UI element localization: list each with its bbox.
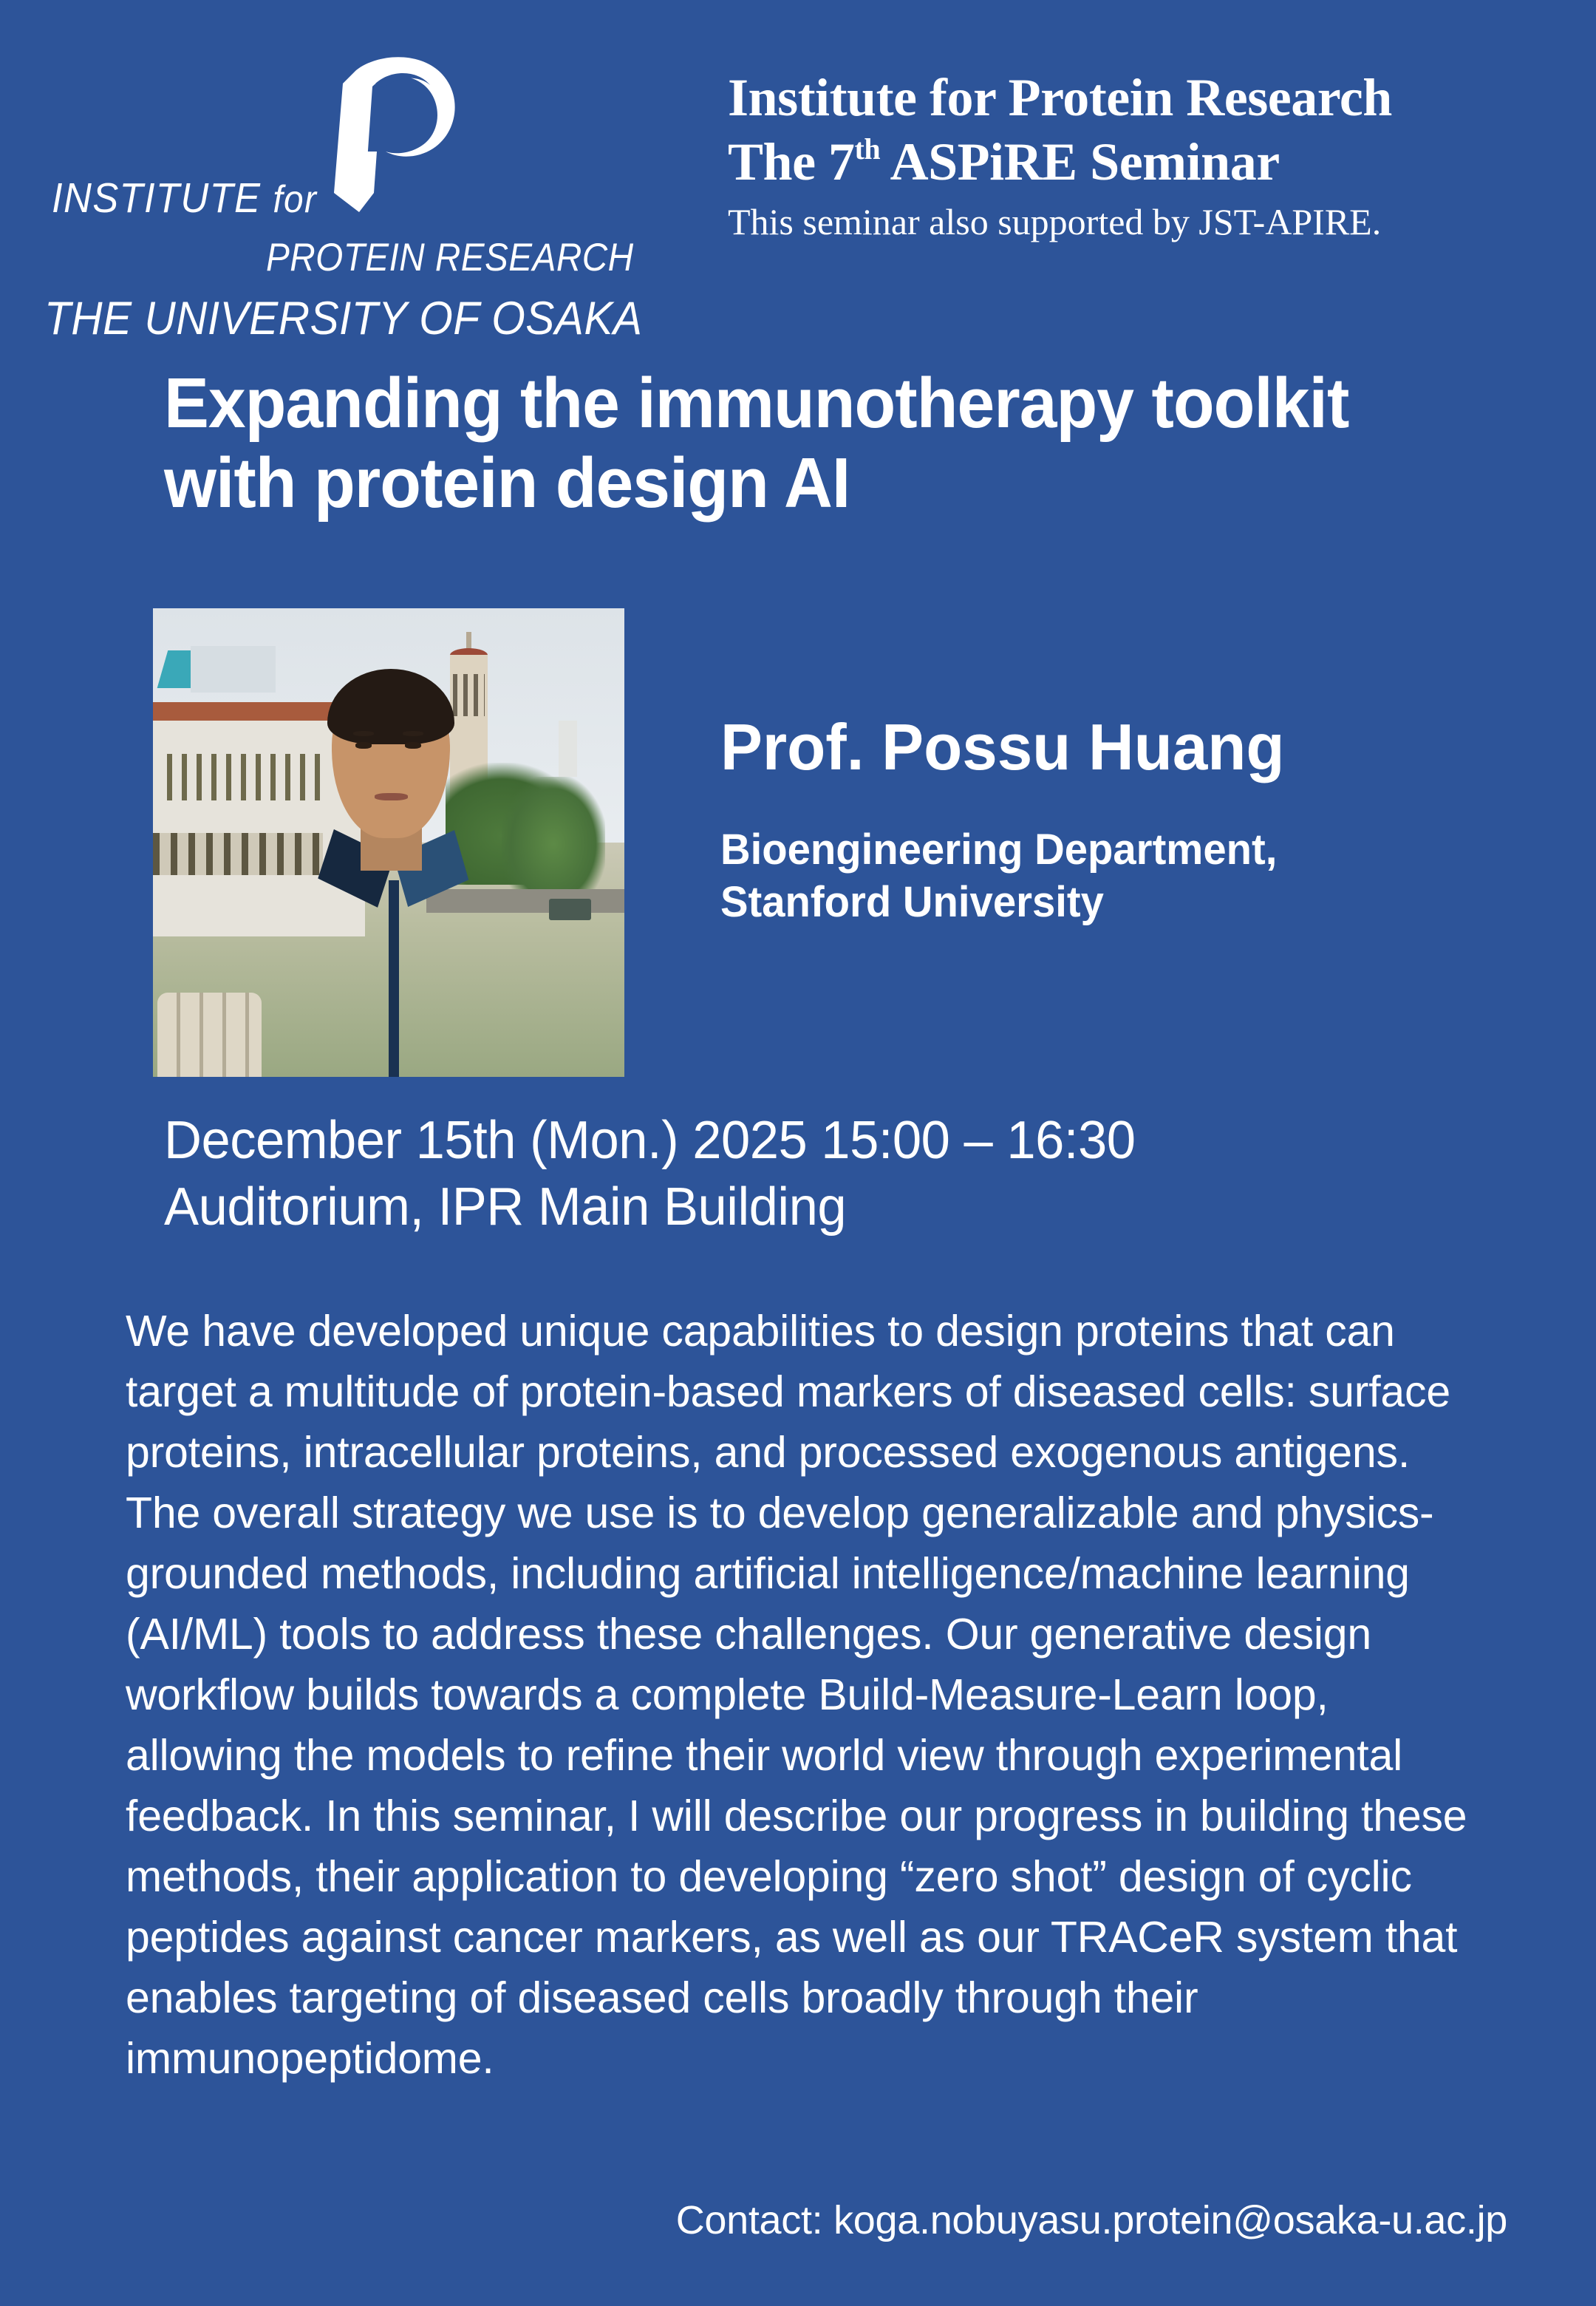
speaker-affiliation: Bioengineering Department, Stanford Univ…	[720, 824, 1523, 929]
header-support-note: This seminar also supported by JST-APIRE…	[728, 200, 1555, 244]
portrait-shirt-placket	[389, 880, 399, 1077]
portrait-eye-left	[355, 742, 372, 749]
logo-line-university: THE UNIVERSITY OF OSAKA	[44, 296, 642, 342]
seminar-header-text: Institute for Protein Research The 7th A…	[728, 67, 1555, 244]
speaker-affiliation-line-2: Stanford University	[720, 877, 1523, 929]
seminar-prefix: The 7	[728, 132, 855, 191]
event-venue: Auditorium, IPR Main Building	[164, 1174, 1511, 1240]
seminar-suffix: ASPiRE Seminar	[880, 132, 1280, 191]
speaker-portrait	[153, 608, 624, 1077]
portrait-background-block	[191, 646, 276, 693]
logo-line-institute-for: INSTITUTE for	[52, 177, 317, 220]
portrait-eyebrow-right	[403, 731, 423, 736]
logo-for-word: for	[273, 178, 317, 221]
header-institute-name: Institute for Protein Research	[728, 67, 1555, 129]
logo-institute-word: INSTITUTE	[52, 174, 261, 222]
portrait-tower-arches	[453, 674, 485, 716]
talk-title-line-1: Expanding the immunotherapy toolkit	[164, 364, 1428, 443]
speaker-name: Prof. Possu Huang	[720, 713, 1285, 781]
logo-line-protein-research: PROTEIN RESEARCH	[266, 238, 634, 277]
talk-title-line-2: with protein design AI	[164, 443, 1428, 523]
portrait-building-windows	[167, 754, 327, 800]
portrait-eye-right	[405, 742, 421, 749]
poster-header: INSTITUTE for PROTEIN RESEARCH THE UNIVE…	[0, 0, 1596, 296]
event-datetime: December 15th (Mon.) 2025 15:00 – 16:30	[164, 1107, 1511, 1174]
header-seminar-number: The 7th ASPiRE Seminar	[728, 131, 1555, 194]
event-details: December 15th (Mon.) 2025 15:00 – 16:30 …	[164, 1107, 1511, 1240]
seminar-ordinal: th	[855, 132, 881, 166]
institute-logo: INSTITUTE for PROTEIN RESEARCH THE UNIVE…	[44, 81, 628, 273]
talk-title: Expanding the immunotherapy toolkit with…	[164, 364, 1428, 523]
speaker-affiliation-line-1: Bioengineering Department,	[720, 824, 1523, 877]
abstract-text: We have developed unique capabilities to…	[126, 1301, 1478, 2089]
portrait-mouth	[375, 793, 408, 800]
portrait-eyebrow-left	[353, 731, 374, 736]
contact-line: Contact: koga.nobuyasu.protein@osaka-u.a…	[676, 2199, 1507, 2242]
